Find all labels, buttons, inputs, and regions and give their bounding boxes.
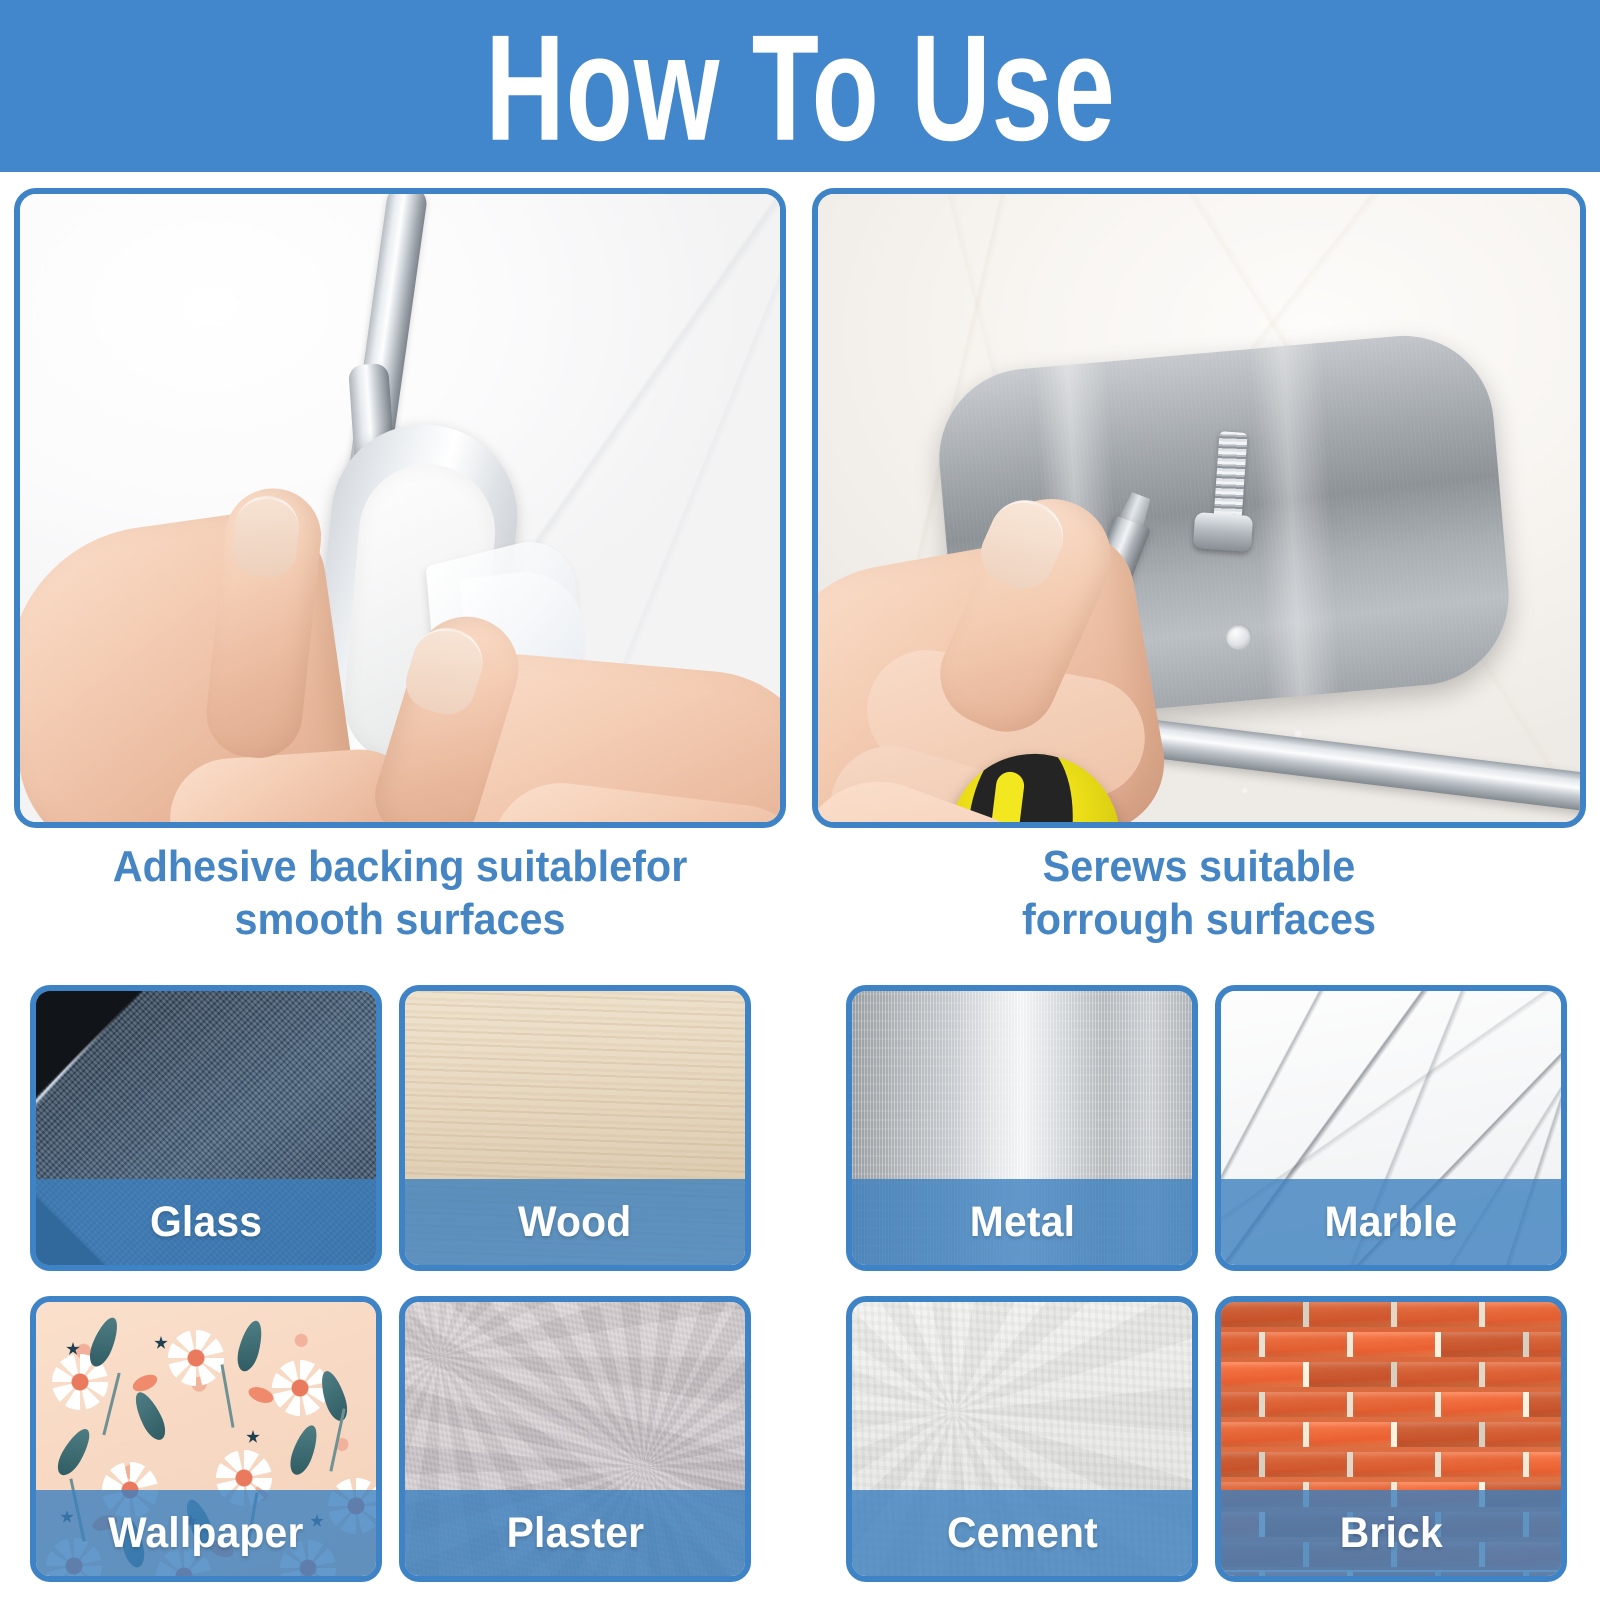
glass-label-bar: Glass bbox=[36, 1179, 376, 1265]
metal-label-bar: Metal bbox=[852, 1179, 1192, 1265]
marble-label: Marble bbox=[1325, 1198, 1458, 1247]
wallpaper-label: Wallpaper bbox=[108, 1509, 303, 1558]
brick-label-bar: Brick bbox=[1221, 1490, 1561, 1576]
cement-label-bar: Cement bbox=[852, 1490, 1192, 1576]
header-banner: How To Use bbox=[0, 0, 1600, 172]
caption-adhesive: Adhesive backing suitablefor smooth surf… bbox=[37, 840, 763, 960]
plate-screw-hole bbox=[1226, 624, 1252, 650]
wallpaper-label-bar: Wallpaper bbox=[36, 1490, 376, 1576]
screw-head bbox=[1193, 512, 1253, 552]
brick-label: Brick bbox=[1339, 1509, 1442, 1558]
page-title: How To Use bbox=[485, 13, 1115, 164]
material-tile-brick[interactable]: Brick bbox=[1215, 1296, 1567, 1582]
photo-card-adhesive bbox=[14, 188, 786, 828]
metal-label: Metal bbox=[969, 1198, 1074, 1247]
wood-label-bar: Wood bbox=[405, 1179, 745, 1265]
instruction-photo-row bbox=[0, 188, 1600, 830]
material-tile-wallpaper[interactable]: Wallpaper bbox=[30, 1296, 382, 1582]
wood-label: Wood bbox=[518, 1198, 631, 1247]
material-tile-metal[interactable]: Metal bbox=[846, 985, 1198, 1271]
material-tile-plaster[interactable]: Plaster bbox=[399, 1296, 751, 1582]
plaster-label-bar: Plaster bbox=[405, 1490, 745, 1576]
material-tile-wood[interactable]: Wood bbox=[399, 985, 751, 1271]
photo-screw-mounting bbox=[818, 194, 1580, 822]
material-tile-glass[interactable]: Glass bbox=[30, 985, 382, 1271]
marble-label-bar: Marble bbox=[1221, 1179, 1561, 1265]
material-tile-marble[interactable]: Marble bbox=[1215, 985, 1567, 1271]
photo-adhesive-backing bbox=[20, 194, 780, 822]
caption-screws: Serews suitable forrough surfaces bbox=[835, 840, 1563, 960]
cement-label: Cement bbox=[947, 1509, 1098, 1558]
plaster-label: Plaster bbox=[506, 1509, 644, 1558]
glass-label: Glass bbox=[150, 1198, 262, 1247]
material-tile-cement[interactable]: Cement bbox=[846, 1296, 1198, 1582]
photo-card-screws bbox=[812, 188, 1586, 828]
